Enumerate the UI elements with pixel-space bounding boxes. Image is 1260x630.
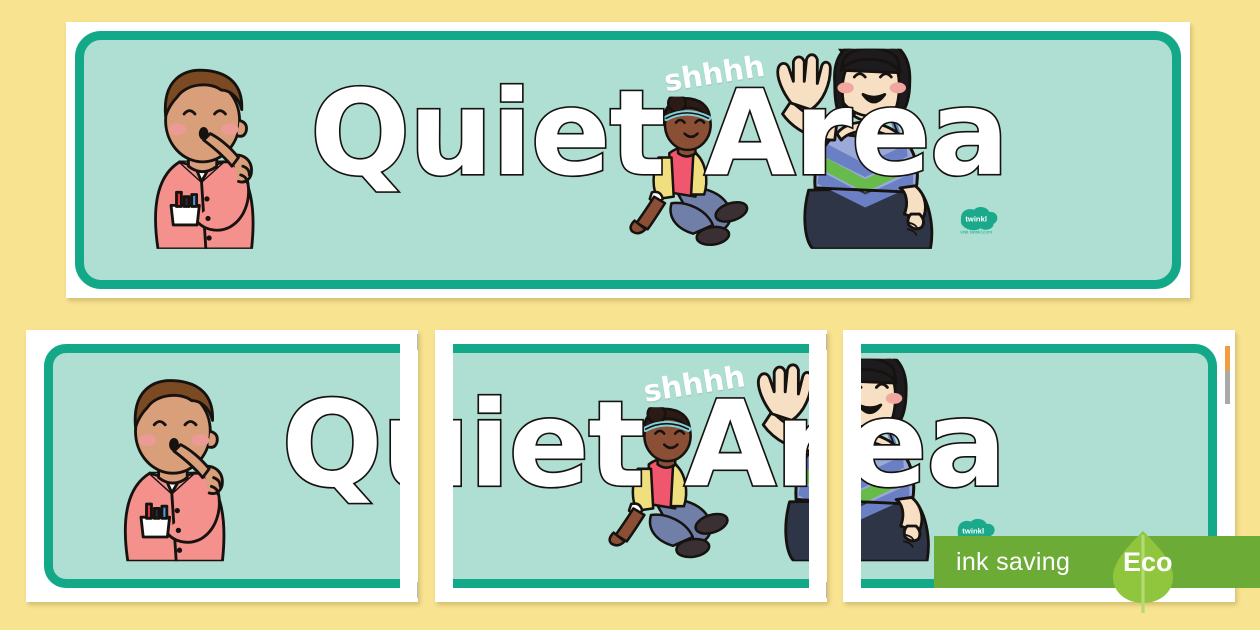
- eco-label: ink saving: [956, 548, 1070, 577]
- twinkl-logo-icon: twinkl visit twinkl.com: [954, 205, 1004, 238]
- banner-section-1-sheet: Quiet Area shhhh twinkl visit twinkl.com: [26, 330, 418, 602]
- svg-text:twinkl: twinkl: [962, 527, 984, 536]
- banner-section-2-sheet: Quiet Area shhhh twinkl visit twinkl.com: [435, 330, 827, 602]
- eco-word: Eco: [1123, 547, 1173, 578]
- man-shushing-illustration: [86, 363, 262, 561]
- svg-text:visit twinkl.com: visit twinkl.com: [960, 230, 992, 236]
- banner-section-1-frame: Quiet Area shhhh twinkl visit twinkl.com: [44, 344, 400, 588]
- edge-watermark: [1225, 346, 1230, 404]
- page-title: Quiet Area: [310, 53, 1008, 216]
- crop-mark: [826, 582, 827, 598]
- main-banner-sheet: Quiet Area shhhh twinkl visit twinkl.com: [66, 22, 1190, 298]
- banner-artwork-slice-1: Quiet Area shhhh twinkl visit twinkl.com: [53, 350, 400, 559]
- banner-artwork: Quiet Area shhhh twinkl visit twinkl.com: [84, 40, 1172, 247]
- svg-text:twinkl: twinkl: [965, 215, 987, 224]
- banner-artwork-slice-2: Quiet Area shhhh twinkl visit twinkl.com: [453, 350, 809, 559]
- main-banner-frame: Quiet Area shhhh twinkl visit twinkl.com: [75, 31, 1181, 289]
- page-title: Quiet Area: [453, 363, 809, 528]
- banner-section-2-frame: Quiet Area shhhh twinkl visit twinkl.com: [453, 344, 809, 588]
- crop-mark: [417, 582, 418, 598]
- crop-mark: [417, 334, 418, 350]
- crop-mark: [826, 334, 827, 350]
- man-shushing-illustration: [117, 53, 291, 249]
- page-title: Quiet Area: [282, 363, 400, 528]
- page-title: Quiet Area: [861, 363, 1005, 528]
- eco-ink-saving-badge: ink saving Eco: [934, 536, 1260, 588]
